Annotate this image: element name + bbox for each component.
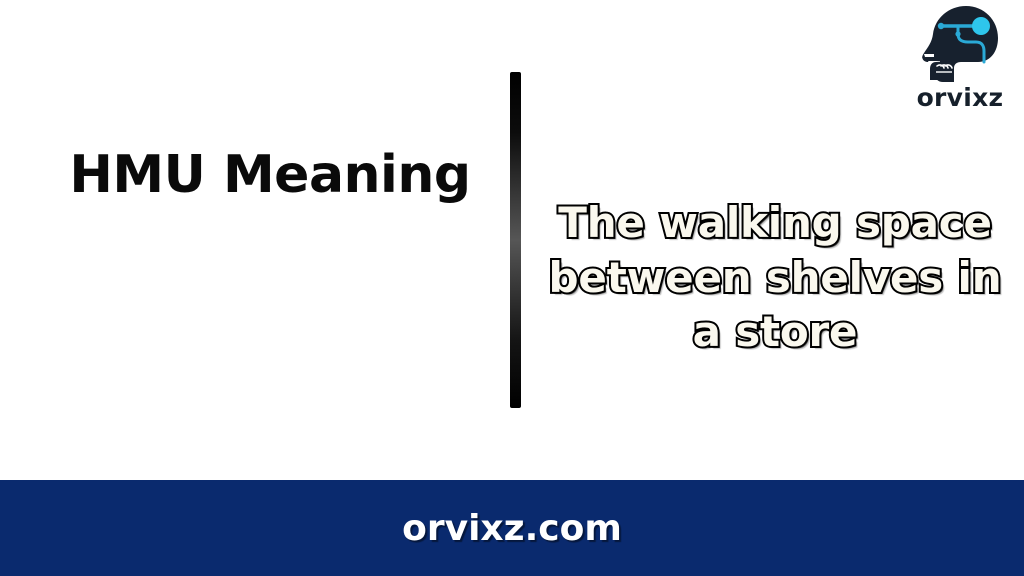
slide-canvas: orvixz HMU Meaning The walking space bet… xyxy=(0,0,1024,576)
footer-banner: orvixz.com xyxy=(0,480,1024,576)
vertical-divider xyxy=(510,72,521,408)
ai-head-profile-icon xyxy=(918,4,1002,84)
brand-wordmark: orvixz xyxy=(908,85,1012,110)
brand-logo: orvixz xyxy=(908,4,1012,120)
page-title: HMU Meaning xyxy=(60,146,480,204)
footer-website: orvixz.com xyxy=(402,508,622,549)
definition-text: The walking space between shelves in a s… xyxy=(540,196,1010,360)
